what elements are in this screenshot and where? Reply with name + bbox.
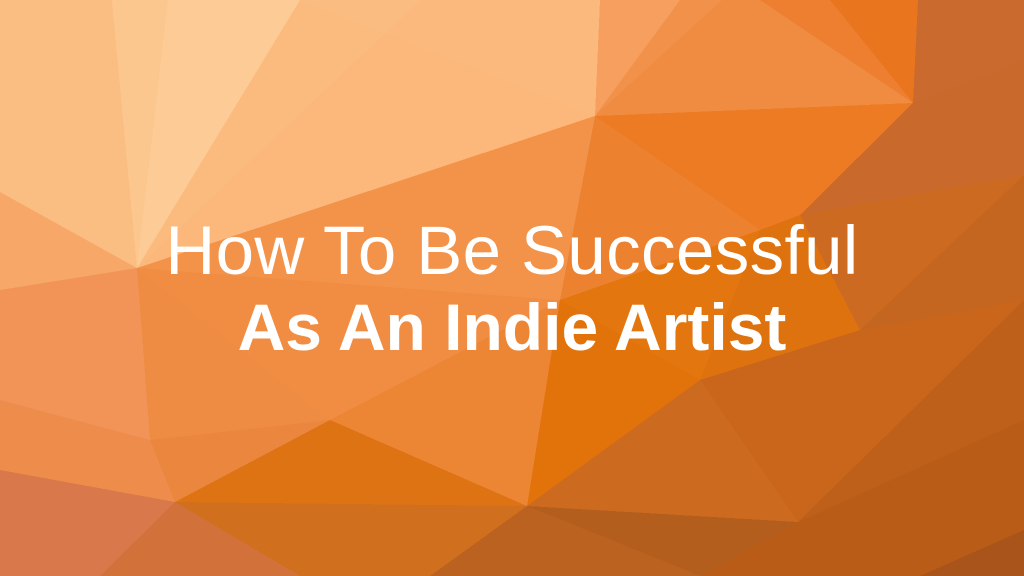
slide-canvas: How To Be Successful As An Indie Artist: [0, 0, 1024, 576]
title-line-2: As An Indie Artist: [238, 291, 787, 363]
title-block: How To Be Successful As An Indie Artist: [0, 0, 1024, 576]
title-line-1: How To Be Successful: [165, 213, 858, 289]
